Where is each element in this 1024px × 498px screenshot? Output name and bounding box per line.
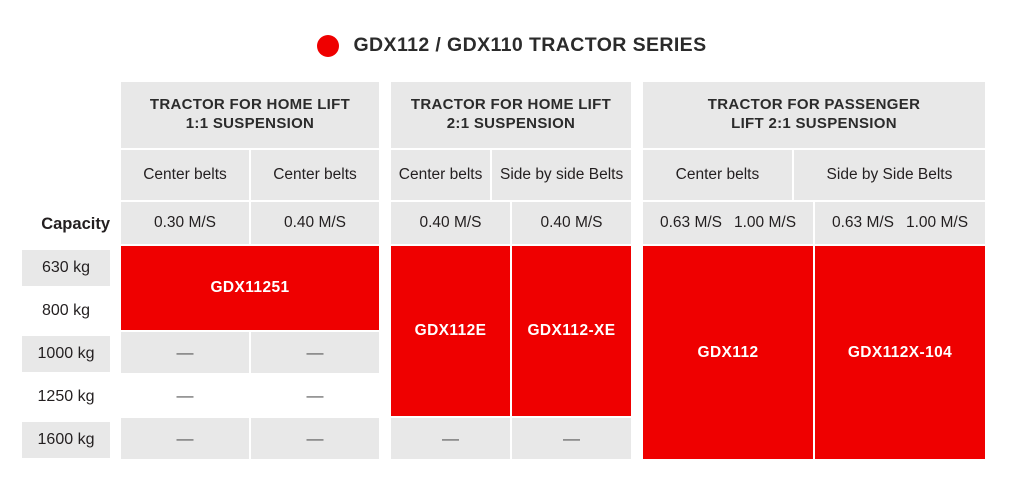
capacity-cell: 630 kg <box>0 246 120 289</box>
g2-col2-belts: Side by side Belts <box>492 150 631 200</box>
data-cell: — <box>251 332 379 373</box>
capacity-label: 1600 kg <box>22 422 110 458</box>
data-cell: — <box>251 418 379 459</box>
g3-col1-speed: 0.63 M/S 1.00 M/S <box>643 202 813 244</box>
group-3-header-cell: TRACTOR FOR PASSENGER LIFT 2:1 SUSPENSIO… <box>643 82 985 148</box>
group-1-header-line1: TRACTOR FOR HOME LIFT <box>150 96 350 113</box>
group-gap-2b <box>632 150 642 202</box>
group-gap-2 <box>632 82 642 150</box>
g3-col2-speed: 0.63 M/S 1.00 M/S <box>815 202 985 244</box>
g3-col1-belts: Center belts <box>643 150 792 200</box>
group-gap-1c <box>380 202 390 246</box>
group-gap <box>380 375 390 418</box>
group-gap <box>380 332 390 375</box>
data-cell: — <box>512 418 631 459</box>
product-name: GDX112 <box>698 344 759 362</box>
group-gap <box>632 332 642 375</box>
group-gap <box>380 246 390 289</box>
group-1-belts: Center belts Center belts <box>120 150 380 202</box>
capacity-label: 800 kg <box>22 293 110 329</box>
data-cell: — <box>391 418 510 459</box>
g3-col2-belts: Side by Side Belts <box>794 150 985 200</box>
capacity-label: 1250 kg <box>22 379 110 415</box>
empty-marker: — <box>442 430 459 447</box>
group-3-header-line1: TRACTOR FOR PASSENGER <box>708 96 920 113</box>
group-3-belts: Center belts Side by Side Belts <box>642 150 986 202</box>
title-text: GDX112 / GDX110 TRACTOR SERIES <box>353 34 706 57</box>
empty-marker: — <box>563 430 580 447</box>
empty-marker: — <box>307 387 324 404</box>
empty-marker: — <box>177 344 194 361</box>
product-name: GDX112-XE <box>527 322 615 340</box>
group-3-header-line2: LIFT 2:1 SUSPENSION <box>731 115 897 132</box>
red-dot-icon <box>317 35 339 57</box>
capacity-cell: 1600 kg <box>0 418 120 461</box>
group-gap <box>380 418 390 461</box>
data-cell: — <box>121 418 249 459</box>
chart-title: GDX112 / GDX110 TRACTOR SERIES <box>0 34 1024 57</box>
belt-type-row: Center belts Center belts Center belts S… <box>0 150 1024 202</box>
group-gap-1 <box>380 82 390 150</box>
g1-col1-speed: 0.30 M/S <box>121 202 249 244</box>
group-2-header-line1: TRACTOR FOR HOME LIFT <box>411 96 611 113</box>
g1-col2-speed: 0.40 M/S <box>251 202 379 244</box>
group-gap-1b <box>380 150 390 202</box>
group-header-row: TRACTOR FOR HOME LIFT 1:1 SUSPENSION TRA… <box>0 82 1024 150</box>
capacity-cell: 800 kg <box>0 289 120 332</box>
g3-col2-speed-a: 0.63 M/S <box>832 214 894 232</box>
group-2-header-line2: 2:1 SUSPENSION <box>447 115 575 132</box>
group-1-speeds: 0.30 M/S 0.40 M/S <box>120 202 380 246</box>
group-3-header: TRACTOR FOR PASSENGER LIFT 2:1 SUSPENSIO… <box>642 82 986 150</box>
product-block[interactable]: GDX112X-104 <box>815 246 985 459</box>
capacity-label: 630 kg <box>22 250 110 286</box>
g2-col1-belts: Center belts <box>391 150 490 200</box>
data-cell: — <box>121 375 249 416</box>
group-1-header-cell: TRACTOR FOR HOME LIFT 1:1 SUSPENSION <box>121 82 379 148</box>
product-name: GDX112E <box>415 322 487 340</box>
comparison-table-page: GDX112 / GDX110 TRACTOR SERIES TRACTOR F… <box>0 0 1024 498</box>
g1-col2-belts: Center belts <box>251 150 379 200</box>
corner-spacer <box>0 82 120 150</box>
group-1-body: —— <box>120 332 380 375</box>
group-2-belts: Center belts Side by side Belts <box>390 150 632 202</box>
g2-col2-speed: 0.40 M/S <box>512 202 631 244</box>
group-gap <box>632 375 642 418</box>
group-1-header-line2: 1:1 SUSPENSION <box>186 115 314 132</box>
g2-col1-speed: 0.40 M/S <box>391 202 510 244</box>
g1-col1-belts: Center belts <box>121 150 249 200</box>
g3-col1-speed-a: 0.63 M/S <box>660 214 722 232</box>
empty-marker: — <box>307 430 324 447</box>
group-2-header: TRACTOR FOR HOME LIFT 2:1 SUSPENSION <box>390 82 632 150</box>
capacity-label: 1000 kg <box>22 336 110 372</box>
empty-marker: — <box>177 387 194 404</box>
group-1-body: —— <box>120 418 380 461</box>
capacity-header-cell: Capacity <box>0 202 120 246</box>
product-name: GDX11251 <box>210 279 289 297</box>
data-cell: — <box>121 332 249 373</box>
capacity-header-label: Capacity <box>41 215 110 234</box>
belt-row-spacer <box>0 150 120 202</box>
product-block[interactable]: GDX112-XE <box>512 246 631 416</box>
product-block[interactable]: GDX11251 <box>121 246 379 330</box>
group-gap-2c <box>632 202 642 246</box>
product-name: GDX112X-104 <box>848 344 952 362</box>
product-block[interactable]: GDX112 <box>643 246 813 459</box>
empty-marker: — <box>307 344 324 361</box>
group-gap <box>380 289 390 332</box>
g3-col1-speed-b: 1.00 M/S <box>734 214 796 232</box>
capacity-cell: 1250 kg <box>0 375 120 418</box>
data-cell: — <box>251 375 379 416</box>
capacity-cell: 1000 kg <box>0 332 120 375</box>
group-gap <box>632 418 642 461</box>
group-2-header-cell: TRACTOR FOR HOME LIFT 2:1 SUSPENSION <box>391 82 631 148</box>
group-2-body: —— <box>390 418 632 461</box>
product-block[interactable]: GDX112E <box>391 246 510 416</box>
g3-col2-speed-b: 1.00 M/S <box>906 214 968 232</box>
group-3-speeds: 0.63 M/S 1.00 M/S 0.63 M/S 1.00 M/S <box>642 202 986 246</box>
group-1-body: —— <box>120 375 380 418</box>
group-gap <box>632 246 642 289</box>
group-1-header: TRACTOR FOR HOME LIFT 1:1 SUSPENSION <box>120 82 380 150</box>
group-2-speeds: 0.40 M/S 0.40 M/S <box>390 202 632 246</box>
empty-marker: — <box>177 430 194 447</box>
group-gap <box>632 289 642 332</box>
speed-row: Capacity 0.30 M/S 0.40 M/S 0.40 M/S 0.40… <box>0 202 1024 246</box>
